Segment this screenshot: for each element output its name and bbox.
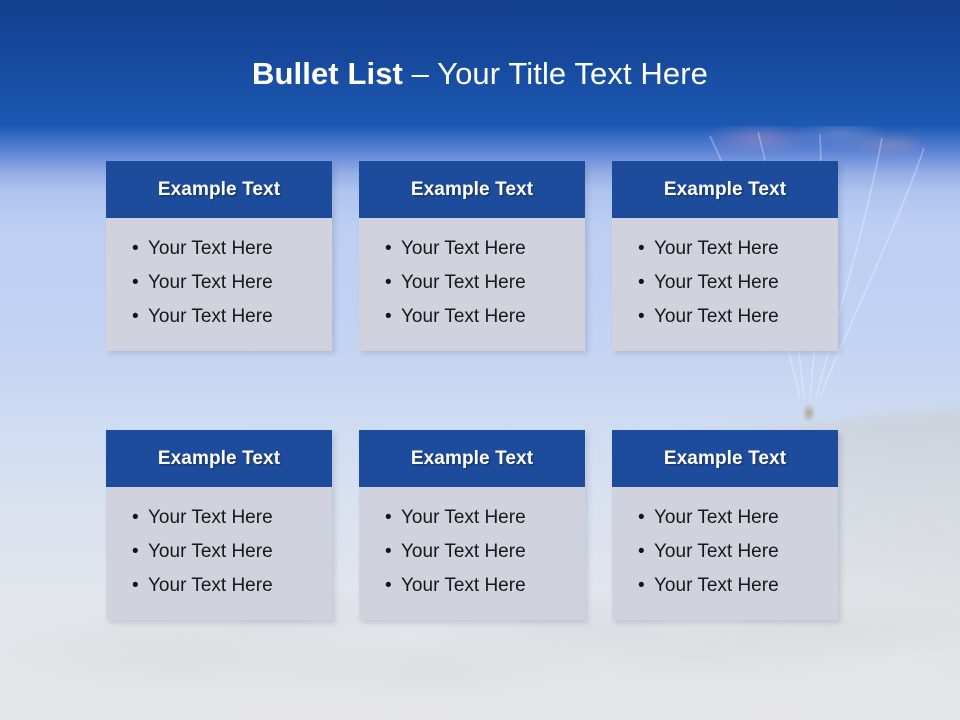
bullet-point-icon: • [385, 234, 401, 263]
card-title-5: Example Text [411, 448, 533, 470]
bullet-point-icon: • [385, 537, 401, 566]
bullet-card-2[interactable]: Example Text • Your Text Here • Your Tex… [359, 161, 585, 351]
list-item: • Your Text Here [359, 503, 585, 532]
card-title-1: Example Text [158, 179, 280, 201]
bullet-card-6[interactable]: Example Text • Your Text Here • Your Tex… [612, 430, 838, 620]
bullet-text: Your Text Here [401, 503, 526, 532]
bullet-text: Your Text Here [148, 503, 273, 532]
bullet-point-icon: • [132, 571, 148, 600]
card-body-3: • Your Text Here • Your Text Here • Your… [612, 218, 838, 351]
bullet-text: Your Text Here [654, 571, 779, 600]
bullet-text: Your Text Here [148, 571, 273, 600]
slide-title: Bullet List – Your Title Text Here [0, 54, 960, 94]
bullet-list-2: • Your Text Here • Your Text Here • Your… [359, 234, 585, 331]
bullet-text: Your Text Here [148, 302, 273, 331]
list-item: • Your Text Here [612, 302, 838, 331]
list-item: • Your Text Here [106, 268, 332, 297]
card-title-4: Example Text [158, 448, 280, 470]
bullet-point-icon: • [132, 302, 148, 331]
bullet-point-icon: • [132, 537, 148, 566]
list-item: • Your Text Here [359, 571, 585, 600]
card-body-5: • Your Text Here • Your Text Here • Your… [359, 487, 585, 620]
bullet-point-icon: • [385, 503, 401, 532]
card-header-6: Example Text [612, 430, 838, 487]
list-item: • Your Text Here [106, 571, 332, 600]
bullet-text: Your Text Here [148, 537, 273, 566]
bullet-text: Your Text Here [148, 234, 273, 263]
bullet-list-6: • Your Text Here • Your Text Here • Your… [612, 503, 838, 600]
list-item: • Your Text Here [612, 537, 838, 566]
card-header-3: Example Text [612, 161, 838, 218]
bullet-list-1: • Your Text Here • Your Text Here • Your… [106, 234, 332, 331]
bullet-point-icon: • [638, 571, 654, 600]
bullet-text: Your Text Here [401, 234, 526, 263]
list-item: • Your Text Here [359, 268, 585, 297]
card-title-3: Example Text [664, 179, 786, 201]
bullet-point-icon: • [132, 503, 148, 532]
presentation-slide: Bullet List – Your Title Text Here Examp… [0, 0, 960, 720]
bullet-text: Your Text Here [654, 234, 779, 263]
list-item: • Your Text Here [612, 234, 838, 263]
bullet-text: Your Text Here [654, 268, 779, 297]
slide-title-bold: Bullet List [252, 56, 412, 91]
card-header-4: Example Text [106, 430, 332, 487]
bullet-text: Your Text Here [148, 268, 273, 297]
card-body-2: • Your Text Here • Your Text Here • Your… [359, 218, 585, 351]
list-item: • Your Text Here [106, 537, 332, 566]
bullet-list-3: • Your Text Here • Your Text Here • Your… [612, 234, 838, 331]
bullet-text: Your Text Here [401, 302, 526, 331]
bullet-list-4: • Your Text Here • Your Text Here • Your… [106, 503, 332, 600]
list-item: • Your Text Here [359, 302, 585, 331]
bullet-point-icon: • [638, 268, 654, 297]
bullet-point-icon: • [638, 302, 654, 331]
bullet-text: Your Text Here [654, 302, 779, 331]
bullet-text: Your Text Here [654, 537, 779, 566]
bullet-point-icon: • [385, 571, 401, 600]
card-header-5: Example Text [359, 430, 585, 487]
card-header-1: Example Text [106, 161, 332, 218]
card-body-1: • Your Text Here • Your Text Here • Your… [106, 218, 332, 351]
bullet-text: Your Text Here [401, 571, 526, 600]
card-title-2: Example Text [411, 179, 533, 201]
card-body-4: • Your Text Here • Your Text Here • Your… [106, 487, 332, 620]
card-title-6: Example Text [664, 448, 786, 470]
list-item: • Your Text Here [359, 537, 585, 566]
bullet-point-icon: • [385, 268, 401, 297]
bullet-list-5: • Your Text Here • Your Text Here • Your… [359, 503, 585, 600]
bullet-card-3[interactable]: Example Text • Your Text Here • Your Tex… [612, 161, 838, 351]
bullet-card-4[interactable]: Example Text • Your Text Here • Your Tex… [106, 430, 332, 620]
bullet-point-icon: • [132, 268, 148, 297]
list-item: • Your Text Here [359, 234, 585, 263]
bullet-point-icon: • [638, 537, 654, 566]
bullet-text: Your Text Here [401, 268, 526, 297]
list-item: • Your Text Here [106, 234, 332, 263]
bullet-card-5[interactable]: Example Text • Your Text Here • Your Tex… [359, 430, 585, 620]
card-header-2: Example Text [359, 161, 585, 218]
list-item: • Your Text Here [106, 503, 332, 532]
background-paraglider-pilot [796, 398, 822, 428]
title-banner: Bullet List – Your Title Text Here [0, 0, 960, 126]
bullet-point-icon: • [385, 302, 401, 331]
list-item: • Your Text Here [612, 503, 838, 532]
card-body-6: • Your Text Here • Your Text Here • Your… [612, 487, 838, 620]
bullet-text: Your Text Here [654, 503, 779, 532]
list-item: • Your Text Here [612, 571, 838, 600]
slide-title-regular: – Your Title Text Here [412, 56, 708, 91]
list-item: • Your Text Here [106, 302, 332, 331]
bullet-card-1[interactable]: Example Text • Your Text Here • Your Tex… [106, 161, 332, 351]
list-item: • Your Text Here [612, 268, 838, 297]
bullet-text: Your Text Here [401, 537, 526, 566]
bullet-point-icon: • [638, 234, 654, 263]
bullet-point-icon: • [638, 503, 654, 532]
bullet-point-icon: • [132, 234, 148, 263]
